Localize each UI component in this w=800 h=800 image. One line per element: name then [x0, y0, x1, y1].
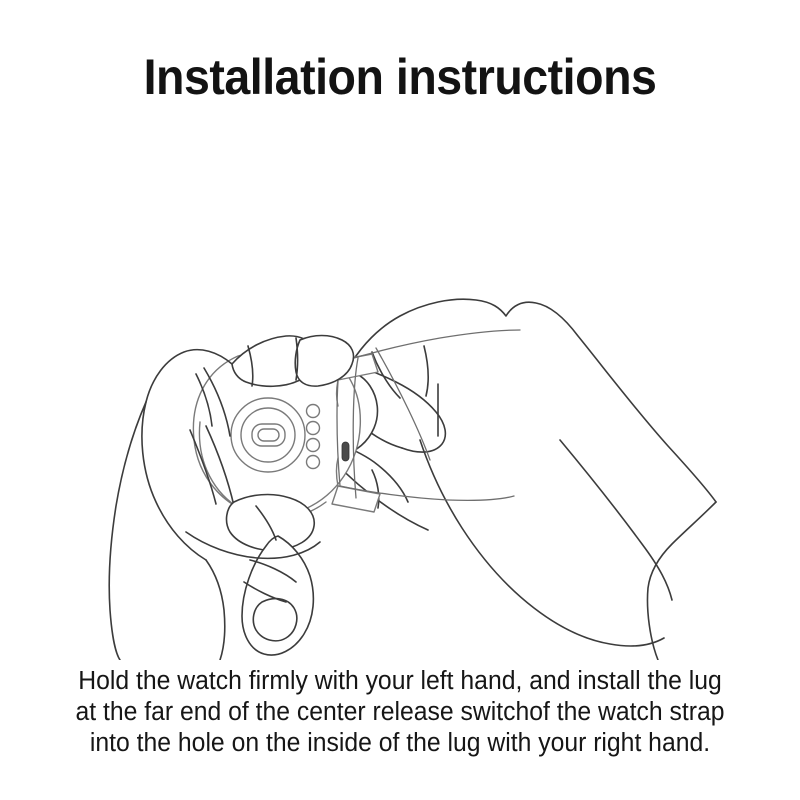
caption-text: Hold the watch firmly with your left han…: [29, 666, 770, 759]
caption-line-1: Hold the watch firmly with your left han…: [29, 666, 770, 697]
instruction-page: Installation instructions: [0, 0, 800, 800]
caption-line-3: into the hole on the inside of the lug w…: [29, 728, 770, 759]
release-switch: [342, 442, 349, 461]
page-title: Installation instructions: [28, 48, 772, 106]
installation-illustration: [0, 140, 800, 660]
right-hand: [352, 299, 716, 660]
left-thumb: [227, 495, 315, 656]
caption-line-2: at the far end of the center release swi…: [29, 697, 770, 728]
